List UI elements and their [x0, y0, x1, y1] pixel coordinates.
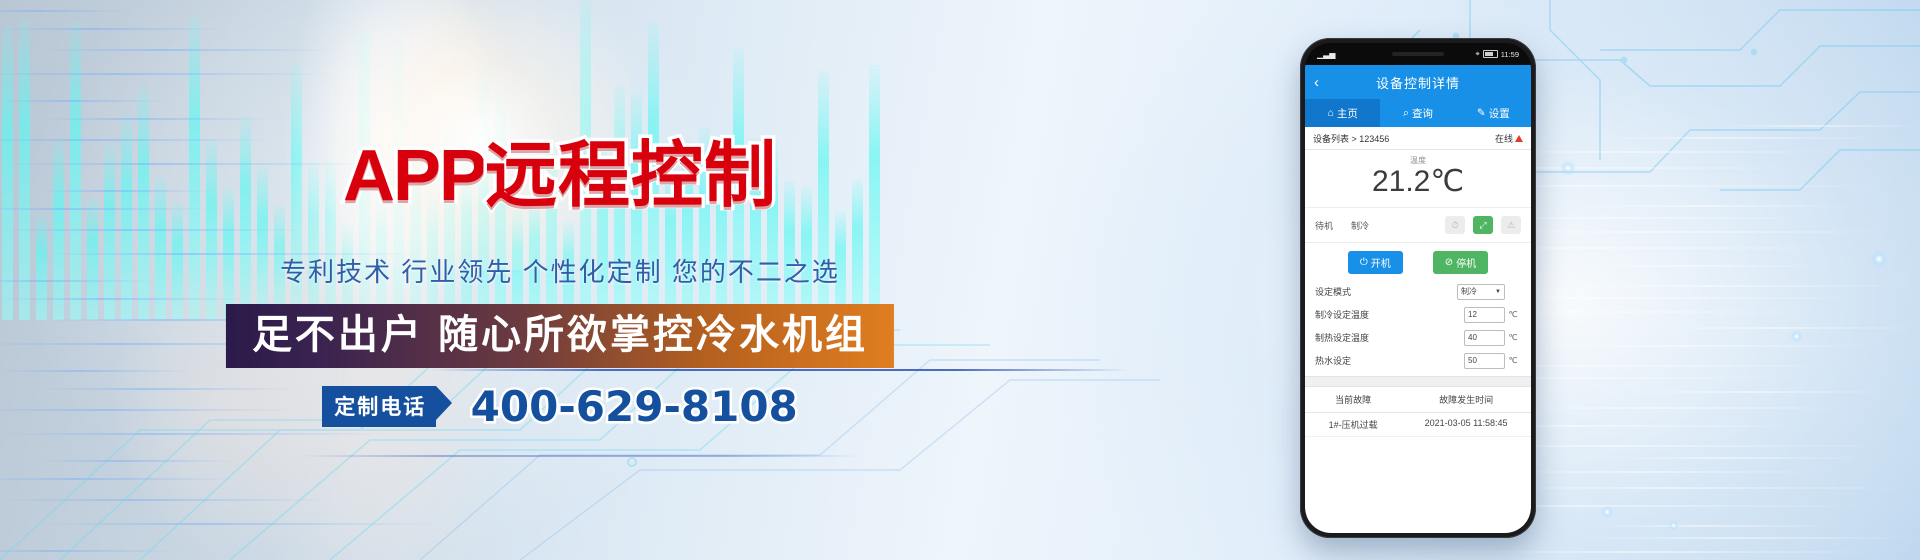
content-fill — [1305, 437, 1531, 533]
mode-row: 待机 制冷 ⏱ ⤢ ⚠ — [1305, 208, 1531, 243]
tab-bar: ⌂ 主页 ⌕ 查询 ✎ 设置 — [1305, 99, 1531, 127]
sparkle-2 — [1870, 250, 1888, 268]
setting-label-heat-temp: 制热设定温度 — [1315, 331, 1464, 344]
device-state-label: 待机 — [1315, 219, 1333, 232]
tel-number[interactable]: 400-629-8108 — [471, 382, 798, 431]
phone-speaker — [1392, 52, 1444, 56]
sparkle-4 — [1600, 505, 1614, 519]
setting-row-mode: 设定模式 制冷 ▼ — [1315, 280, 1521, 303]
fault-name: 1#-压机过载 — [1305, 418, 1401, 431]
tab-settings[interactable]: ✎ 设置 — [1456, 99, 1531, 127]
tab-query[interactable]: ⌕ 查询 — [1380, 99, 1455, 127]
fault-table-header: 当前故障 故障发生时间 — [1305, 387, 1531, 413]
breadcrumb: 设备列表 > 123456 在线 — [1305, 127, 1531, 150]
stop-icon: ⊘ — [1445, 257, 1453, 268]
hero-subline: 专利技术 行业领先 个性化定制 您的不二之选 — [0, 252, 1120, 289]
temperature-value: 21.2℃ — [1305, 164, 1531, 199]
power-on-button[interactable]: ⏻ 开机 — [1348, 251, 1403, 274]
chart-icon[interactable]: ⤢ — [1473, 216, 1493, 234]
mode-select-value: 制冷 — [1461, 286, 1477, 297]
mode-select[interactable]: 制冷 ▼ — [1457, 284, 1505, 300]
phone-screen: ▁▃▅ ⌖ 11:59 ‹ 设备控制详情 ⌂ 主页 ⌕ — [1305, 43, 1531, 533]
setting-label-mode: 设定模式 — [1315, 285, 1457, 298]
tab-query-label: 查询 — [1412, 106, 1433, 121]
search-icon: ⌕ — [1403, 107, 1409, 120]
power-off-label: 停机 — [1456, 255, 1476, 270]
status-bar: ▁▃▅ ⌖ 11:59 — [1305, 43, 1531, 65]
setting-unit-hotwater: ℃ — [1505, 356, 1521, 365]
status-bar-left: ▁▃▅ — [1317, 50, 1335, 59]
banner-stage: APP远程控制 专利技术 行业领先 个性化定制 您的不二之选 足不出户 随心所欲… — [0, 0, 1920, 560]
tel-label-tag: 定制电话 — [322, 386, 436, 427]
setting-row-hotwater: 热水设定 50 ℃ — [1315, 349, 1521, 372]
power-on-label: 开机 — [1371, 255, 1391, 270]
power-off-button[interactable]: ⊘ 停机 — [1433, 251, 1488, 274]
status-badge: 在线 — [1495, 132, 1523, 145]
temperature-card: 温度 21.2℃ — [1305, 150, 1531, 208]
fault-table: 当前故障 故障发生时间 1#-压机过载 2021-03-05 11:58:45 — [1305, 387, 1531, 437]
tab-settings-label: 设置 — [1489, 106, 1510, 121]
setting-unit-heat-temp: ℃ — [1505, 333, 1521, 342]
headline-cn: 远程控制 — [485, 136, 777, 216]
tab-home[interactable]: ⌂ 主页 — [1305, 99, 1380, 127]
setting-label-cool-temp: 制冷设定温度 — [1315, 308, 1464, 321]
status-badge-label: 在线 — [1495, 132, 1513, 145]
wrench-icon: ✎ — [1477, 107, 1486, 119]
setting-row-heat-temp: 制热设定温度 40 ℃ — [1315, 326, 1521, 349]
phone-mockup: ▁▃▅ ⌖ 11:59 ‹ 设备控制详情 ⌂ 主页 ⌕ — [1300, 38, 1536, 538]
settings-form: 设定模式 制冷 ▼ 制冷设定温度 12 ℃ 制热设定温度 40 ℃ — [1305, 280, 1531, 376]
hotwater-input[interactable]: 50 — [1464, 353, 1505, 369]
tab-home-label: 主页 — [1337, 106, 1358, 121]
hero-copy: APP远程控制 专利技术 行业领先 个性化定制 您的不二之选 足不出户 随心所欲… — [0, 0, 1120, 560]
setting-unit-cool-temp: ℃ — [1505, 310, 1521, 319]
sparkle-3 — [1790, 330, 1803, 343]
chevron-down-icon: ▼ — [1495, 289, 1501, 295]
heat-temp-input[interactable]: 40 — [1464, 330, 1505, 346]
fault-time: 2021-03-05 11:58:45 — [1401, 418, 1531, 431]
page-title: APP远程控制 — [0, 140, 1120, 212]
status-bar-time: 11:59 — [1501, 50, 1519, 59]
fault-col-current: 当前故障 — [1305, 393, 1401, 406]
status-bar-right: ⌖ 11:59 — [1476, 49, 1519, 59]
signal-icon: ▁▃▅ — [1317, 50, 1335, 59]
battery-icon — [1483, 50, 1498, 58]
app-bar: ‹ 设备控制详情 — [1305, 65, 1531, 99]
setting-label-hotwater: 热水设定 — [1315, 354, 1464, 367]
sparkle-5 — [1668, 520, 1679, 531]
breadcrumb-text[interactable]: 设备列表 > 123456 — [1313, 132, 1389, 145]
location-icon: ⌖ — [1476, 49, 1480, 59]
hero-band: 足不出户 随心所欲掌控冷水机组 — [226, 304, 894, 368]
alarm-icon[interactable]: ⚠ — [1501, 216, 1521, 234]
home-icon: ⌂ — [1327, 107, 1333, 119]
table-row[interactable]: 1#-压机过载 2021-03-05 11:58:45 — [1305, 413, 1531, 437]
contact-row: 定制电话 400-629-8108 — [0, 382, 1120, 431]
fault-col-time: 故障发生时间 — [1401, 393, 1531, 406]
warning-triangle-icon — [1515, 135, 1523, 142]
chevron-left-icon[interactable]: ‹ — [1314, 75, 1319, 90]
app-bar-title: 设备控制详情 — [1305, 73, 1531, 92]
timer-icon[interactable]: ⏱ — [1445, 216, 1465, 234]
setting-row-cool-temp: 制冷设定温度 12 ℃ — [1315, 303, 1521, 326]
device-mode-label: 制冷 — [1351, 219, 1369, 232]
cool-temp-input[interactable]: 12 — [1464, 307, 1505, 323]
headline-en: APP — [343, 136, 485, 216]
sparkle-1 — [1560, 160, 1576, 176]
power-icon: ⏻ — [1360, 257, 1368, 268]
mode-icon-buttons: ⏱ ⤢ ⚠ — [1445, 216, 1521, 234]
section-divider — [1305, 376, 1531, 387]
action-buttons: ⏻ 开机 ⊘ 停机 — [1305, 243, 1531, 280]
